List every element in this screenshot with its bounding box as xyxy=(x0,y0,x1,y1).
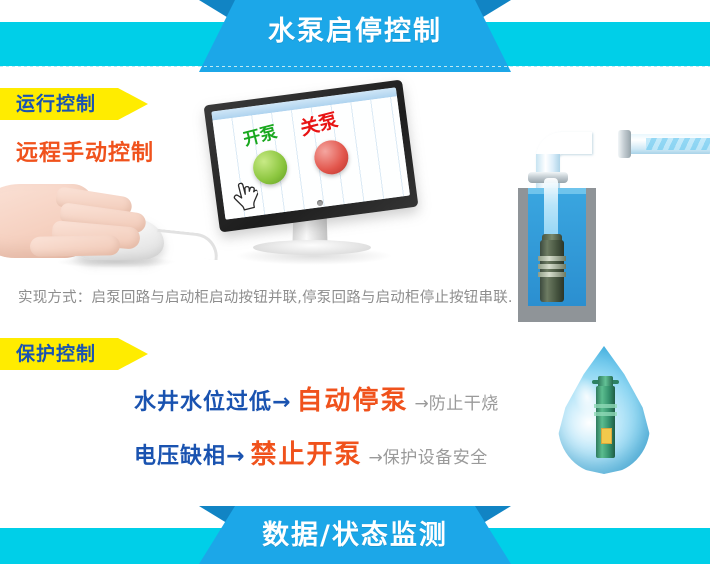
well-pump-diagram xyxy=(500,60,710,275)
protection-result: 防止干烧 xyxy=(429,394,499,414)
droplet-pump-band-1 xyxy=(594,404,617,408)
tag-run-control: 运行控制 xyxy=(0,88,148,120)
protection-result: 保护设备安全 xyxy=(383,448,488,468)
monitor-frame: 开泵 关泵 xyxy=(204,79,419,232)
monitor-stand-base xyxy=(253,240,371,255)
arrow-icon: → xyxy=(272,390,290,415)
monitor-illustration: 开泵 关泵 xyxy=(205,92,420,277)
tag-protection-control: 保护控制 xyxy=(0,338,148,370)
bottom-banner-title: 数据/状态监测 xyxy=(0,522,710,549)
page-root: 水泵启停控制 运行控制 远程手动控制 开泵 关泵 xyxy=(0,0,710,564)
pump-band-2 xyxy=(538,264,566,269)
droplet-pump-band-2 xyxy=(594,412,617,416)
pump-band-3 xyxy=(538,272,566,277)
droplet-pump-body xyxy=(596,386,615,458)
hand-mouse-illustration xyxy=(0,170,190,280)
top-banner-title: 水泵启停控制 xyxy=(0,18,710,45)
protection-condition: 电压缺相 xyxy=(134,444,226,469)
protection-row: 水井水位过低→自动停泵→防止干烧 xyxy=(134,380,499,417)
implementation-note: 实现方式：启泵回路与启动柜启动按钮并联,停泵回路与启动柜停止按钮串联. xyxy=(18,286,513,307)
hand-thumb xyxy=(30,235,120,257)
remote-manual-control-headline: 远程手动控制 xyxy=(16,135,154,167)
droplet-pump-nameplate xyxy=(601,428,612,444)
arrow-icon: → xyxy=(226,444,244,469)
arrow-icon-secondary: → xyxy=(414,394,428,414)
water-droplet-illustration xyxy=(548,342,662,482)
pump-band-1 xyxy=(538,256,566,261)
submersible-pump-body xyxy=(540,240,564,302)
protection-action: 禁止开泵 xyxy=(250,440,362,470)
pipe-flange-right xyxy=(618,130,631,158)
protection-condition: 水井水位过低 xyxy=(134,390,272,415)
protection-row: 电压缺相→禁止开泵→保护设备安全 xyxy=(134,434,488,471)
bottom-banner: 数据/状态监测 xyxy=(0,492,710,564)
arrow-icon-secondary: → xyxy=(368,448,382,468)
pipe-water-flow xyxy=(646,138,710,150)
monitor-screen: 开泵 关泵 xyxy=(211,87,410,219)
protection-action: 自动停泵 xyxy=(296,386,408,416)
